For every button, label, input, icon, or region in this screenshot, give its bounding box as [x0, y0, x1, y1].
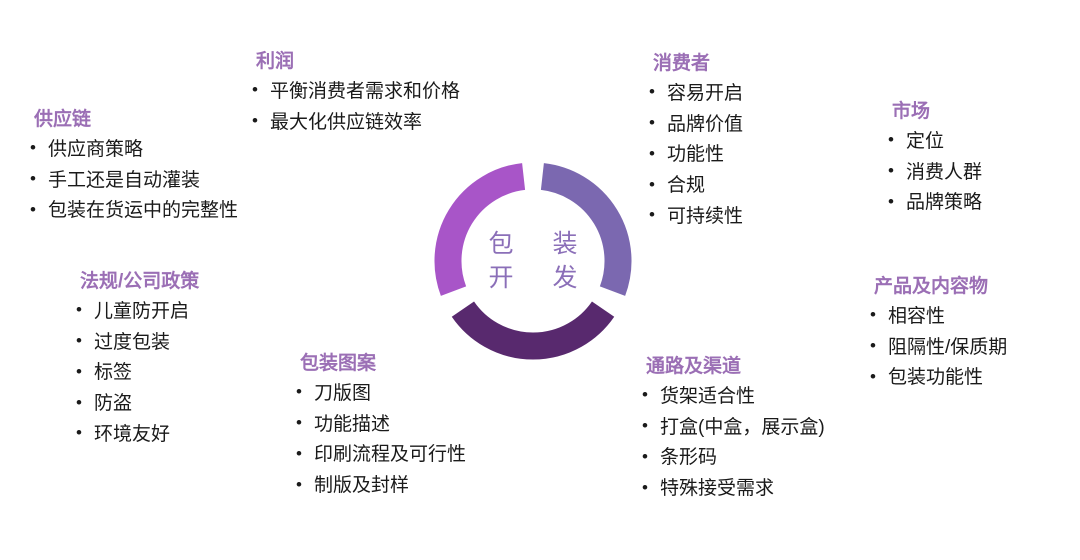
list-item: 容易开启 — [645, 79, 743, 110]
list-item: 品牌价值 — [645, 110, 743, 141]
block-artwork: 包装图案 刀版图 功能描述 印刷流程及可行性 制版及封样 — [292, 352, 466, 502]
list-item: 阻隔性/保质期 — [866, 333, 1007, 364]
block-list-profit: 平衡消费者需求和价格 最大化供应链效率 — [248, 77, 460, 139]
block-title-artwork: 包装图案 — [292, 352, 466, 376]
block-title-consumer: 消费者 — [645, 52, 743, 76]
block-list-channel: 货架适合性 打盒(中盒，展示盒) 条形码 特殊接受需求 — [638, 382, 825, 505]
block-channel: 通路及渠道 货架适合性 打盒(中盒，展示盒) 条形码 特殊接受需求 — [638, 355, 825, 505]
list-item: 功能性 — [645, 140, 743, 171]
list-item: 特殊接受需求 — [638, 474, 825, 505]
block-list-product: 相容性 阻隔性/保质期 包装功能性 — [866, 302, 1007, 394]
list-item: 印刷流程及可行性 — [292, 440, 466, 471]
block-profit: 利润 平衡消费者需求和价格 最大化供应链效率 — [248, 50, 460, 138]
block-supply-chain: 供应链 供应商策略 手工还是自动灌装 包装在货运中的完整性 — [26, 108, 238, 227]
block-title-market: 市场 — [884, 100, 982, 124]
block-list-consumer: 容易开启 品牌价值 功能性 合规 可持续性 — [645, 79, 743, 233]
block-title-product: 产品及内容物 — [866, 275, 1007, 299]
list-item: 包装功能性 — [866, 363, 1007, 394]
list-item: 防盗 — [72, 389, 199, 420]
list-item: 环境友好 — [72, 420, 199, 451]
center-text-line-2: 开 发 — [473, 264, 594, 292]
list-item: 合规 — [645, 171, 743, 202]
list-item: 制版及封样 — [292, 471, 466, 502]
block-title-regulation: 法规/公司政策 — [72, 270, 199, 294]
list-item: 平衡消费者需求和价格 — [248, 77, 460, 108]
list-item: 包装在货运中的完整性 — [26, 196, 238, 227]
donut-center-label: 包 装 开 发 — [424, 164, 642, 358]
list-item: 供应商策略 — [26, 135, 238, 166]
list-item: 标签 — [72, 358, 199, 389]
list-item: 儿童防开启 — [72, 297, 199, 328]
list-item: 消费人群 — [884, 158, 982, 189]
list-item: 手工还是自动灌装 — [26, 166, 238, 197]
center-text-line-1: 包 装 — [473, 230, 594, 258]
block-product: 产品及内容物 相容性 阻隔性/保质期 包装功能性 — [866, 275, 1007, 394]
block-list-market: 定位 消费人群 品牌策略 — [884, 127, 982, 219]
list-item: 品牌策略 — [884, 188, 982, 219]
block-title-profit: 利润 — [248, 50, 460, 74]
block-title-channel: 通路及渠道 — [638, 355, 825, 379]
block-list-regulation: 儿童防开启 过度包装 标签 防盗 环境友好 — [72, 297, 199, 451]
list-item: 条形码 — [638, 443, 825, 474]
list-item: 相容性 — [866, 302, 1007, 333]
list-item: 刀版图 — [292, 379, 466, 410]
list-item: 可持续性 — [645, 202, 743, 233]
block-consumer: 消费者 容易开启 品牌价值 功能性 合规 可持续性 — [645, 52, 743, 233]
list-item: 货架适合性 — [638, 382, 825, 413]
block-list-artwork: 刀版图 功能描述 印刷流程及可行性 制版及封样 — [292, 379, 466, 502]
list-item: 定位 — [884, 127, 982, 158]
block-market: 市场 定位 消费人群 品牌策略 — [884, 100, 982, 219]
block-regulation: 法规/公司政策 儿童防开启 过度包装 标签 防盗 环境友好 — [72, 270, 199, 451]
list-item: 打盒(中盒，展示盒) — [638, 413, 825, 444]
list-item: 功能描述 — [292, 410, 466, 441]
packaging-development-donut: 包 装 开 发 — [424, 164, 642, 358]
list-item: 最大化供应链效率 — [248, 108, 460, 139]
block-title-supply-chain: 供应链 — [26, 108, 238, 132]
list-item: 过度包装 — [72, 328, 199, 359]
block-list-supply-chain: 供应商策略 手工还是自动灌装 包装在货运中的完整性 — [26, 135, 238, 227]
